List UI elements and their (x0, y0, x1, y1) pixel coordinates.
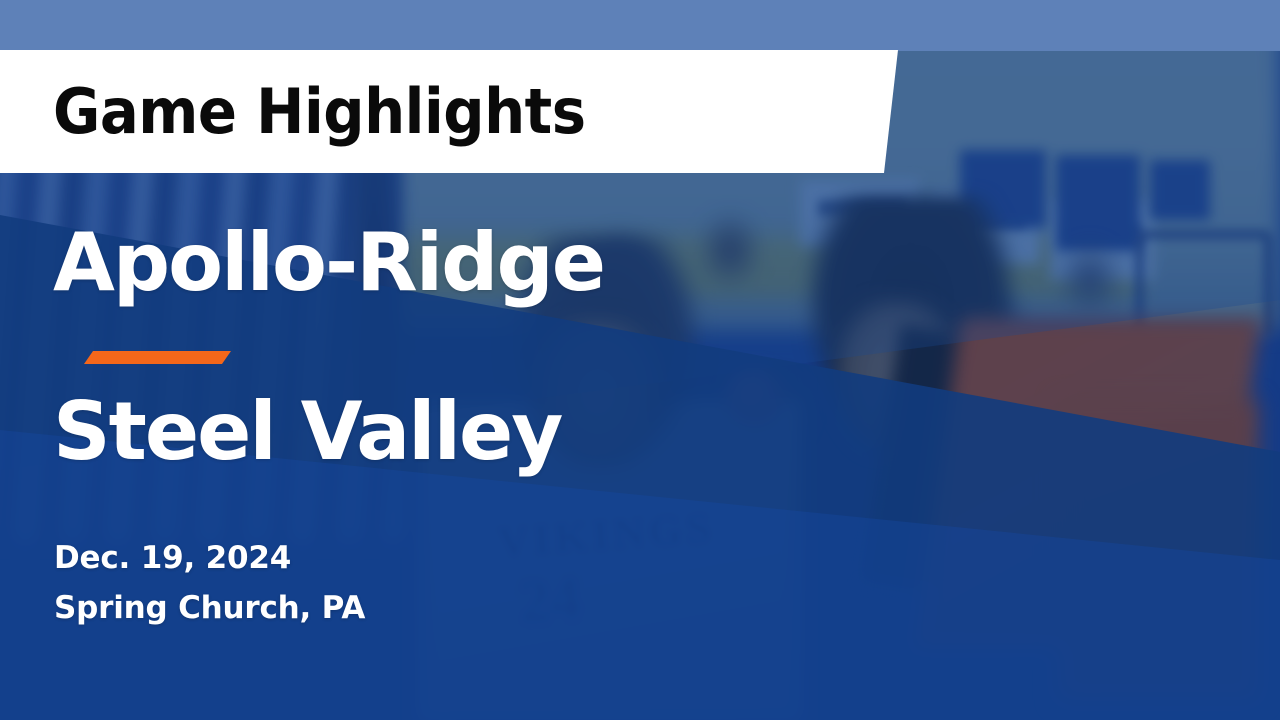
game-date: Dec. 19, 2024 (54, 540, 291, 576)
game-location: Spring Church, PA (54, 590, 365, 626)
team-divider-rule (84, 351, 231, 364)
matchup-content: Apollo-Ridge Steel Valley Dec. 19, 2024 … (0, 0, 1280, 720)
game-highlights-graphic: VIKINGS 24 Game Highlights Apollo-Ridge … (0, 0, 1280, 720)
away-team-name: Steel Valley (53, 385, 561, 478)
home-team-name: Apollo-Ridge (53, 216, 604, 309)
